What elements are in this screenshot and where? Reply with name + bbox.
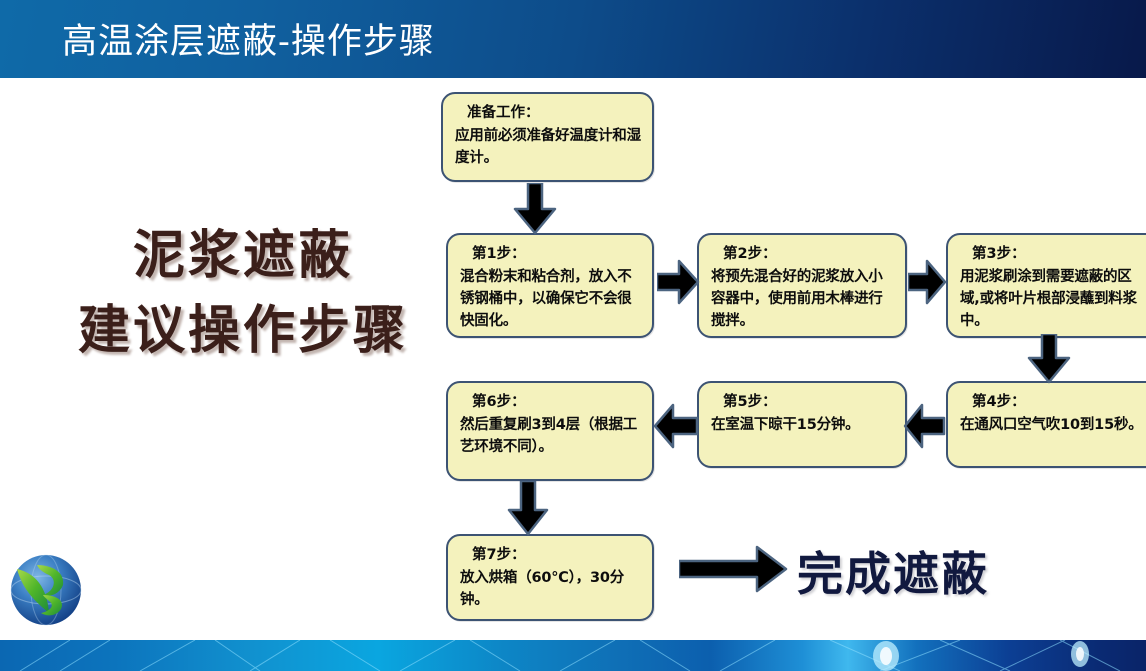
flow-box-step2-body: 将预先混合好的泥浆放入小容器中，使用前用木棒进行搅拌。 [711, 266, 895, 332]
company-logo-icon [7, 551, 85, 629]
flow-box-step6-body: 然后重复刷3到4层（根据工艺环境不同）。 [460, 414, 642, 458]
flow-box-prep-title: 准备工作： [467, 102, 642, 124]
arrow-down-step6-to-step7-icon [505, 481, 551, 536]
flow-box-step4: 第4步： 在通风口空气吹10到15秒。 [946, 381, 1146, 468]
flow-box-step3-title: 第3步： [972, 243, 1146, 265]
flow-box-step7-body: 放入烘箱（60℃），30分钟。 [460, 567, 642, 611]
left-heading-block: 泥浆遮蔽 建议操作步骤 [48, 218, 438, 369]
flow-box-step3-body: 用泥浆刷涂到需要遮蔽的区域,或将叶片根部浸蘸到料浆中。 [960, 266, 1146, 332]
flow-box-prep: 准备工作： 应用前必须准备好温度计和湿度计。 [441, 92, 654, 182]
flow-box-step5-body: 在室温下晾干15分钟。 [711, 414, 895, 436]
arrow-down-prep-to-step1-icon [511, 183, 559, 235]
flow-box-step1-body: 混合粉末和粘合剂，放入不锈钢桶中，以确保它不会很快固化。 [460, 266, 642, 332]
flow-box-step6-title: 第6步： [472, 391, 642, 413]
left-heading-line-1: 泥浆遮蔽 [48, 218, 438, 293]
left-heading-line-2: 建议操作步骤 [48, 293, 438, 368]
flow-box-step2: 第2步： 将预先混合好的泥浆放入小容器中，使用前用木棒进行搅拌。 [697, 233, 907, 338]
flow-box-step1-title: 第1步： [472, 243, 642, 265]
flow-box-step5: 第5步： 在室温下晾干15分钟。 [697, 381, 907, 468]
flow-box-step4-title: 第4步： [972, 391, 1146, 413]
flow-box-step6: 第6步： 然后重复刷3到4层（根据工艺环境不同）。 [446, 381, 654, 481]
final-result-label: 完成遮蔽 [797, 538, 989, 604]
flow-box-step1: 第1步： 混合粉末和粘合剂，放入不锈钢桶中，以确保它不会很快固化。 [446, 233, 654, 338]
flow-box-step4-body: 在通风口空气吹10到15秒。 [960, 414, 1146, 436]
arrow-right-step2-to-step3-icon [908, 258, 948, 306]
arrow-left-step4-to-step5-icon [903, 402, 947, 450]
arrow-right-step7-to-finish-icon [679, 545, 789, 593]
flow-box-prep-body: 应用前必须准备好温度计和湿度计。 [455, 125, 642, 169]
flow-box-step3: 第3步： 用泥浆刷涂到需要遮蔽的区域,或将叶片根部浸蘸到料浆中。 [946, 233, 1146, 338]
flow-box-step2-title: 第2步： [723, 243, 895, 265]
flow-box-step5-title: 第5步： [723, 391, 895, 413]
slide-header-bar: 高温涂层遮蔽-操作步骤 [0, 0, 1146, 78]
slide-canvas: 高温涂层遮蔽-操作步骤 泥浆遮蔽 建议操作步骤 准备工作： 应用前必须准备好温度… [0, 0, 1146, 671]
footer-streaks-icon [0, 640, 1146, 671]
arrow-left-step5-to-step6-icon [653, 402, 699, 450]
footer-band [0, 640, 1146, 671]
flow-box-step7-title: 第7步： [472, 544, 642, 566]
flow-box-step7: 第7步： 放入烘箱（60℃），30分钟。 [446, 534, 654, 621]
page-title: 高温涂层遮蔽-操作步骤 [62, 13, 435, 64]
arrow-right-step1-to-step2-icon [657, 258, 701, 306]
arrow-down-step3-to-step4-icon [1025, 334, 1073, 384]
